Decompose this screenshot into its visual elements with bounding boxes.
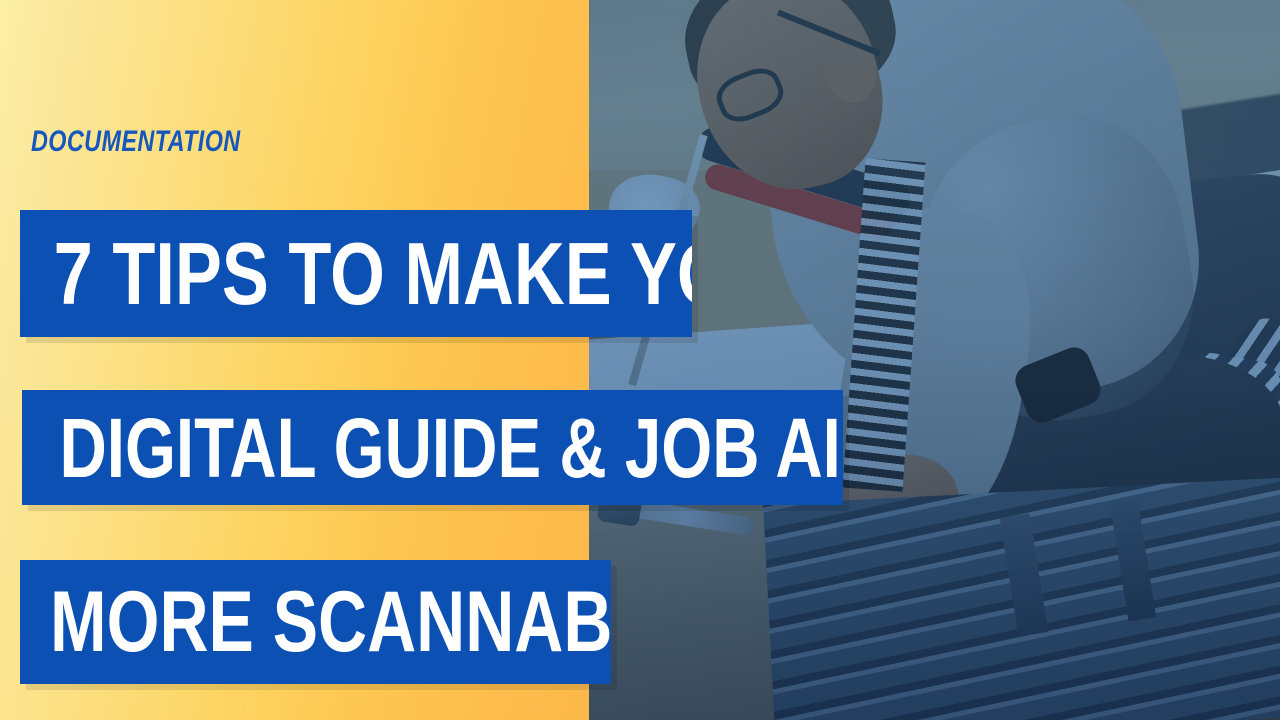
hero-photo	[589, 0, 1280, 720]
title-bar-line-1: 7 TIPS TO MAKE YOUR	[20, 210, 692, 337]
kicker-label: DOCUMENTATION	[31, 125, 241, 159]
title-line-2-text: DIGITAL GUIDE & JOB AIDS	[22, 406, 843, 490]
banner-root: DOCUMENTATION 7 TIPS TO MAKE YOUR DIGITA…	[0, 0, 1280, 720]
title-line-1-text: 7 TIPS TO MAKE YOUR	[20, 230, 692, 318]
title-bar-line-3: MORE SCANNABLE	[20, 560, 611, 684]
photo-blue-tint-overlay	[589, 0, 1280, 720]
title-bar-line-2: DIGITAL GUIDE & JOB AIDS	[22, 390, 843, 505]
title-line-3-text: MORE SCANNABLE	[20, 579, 611, 665]
